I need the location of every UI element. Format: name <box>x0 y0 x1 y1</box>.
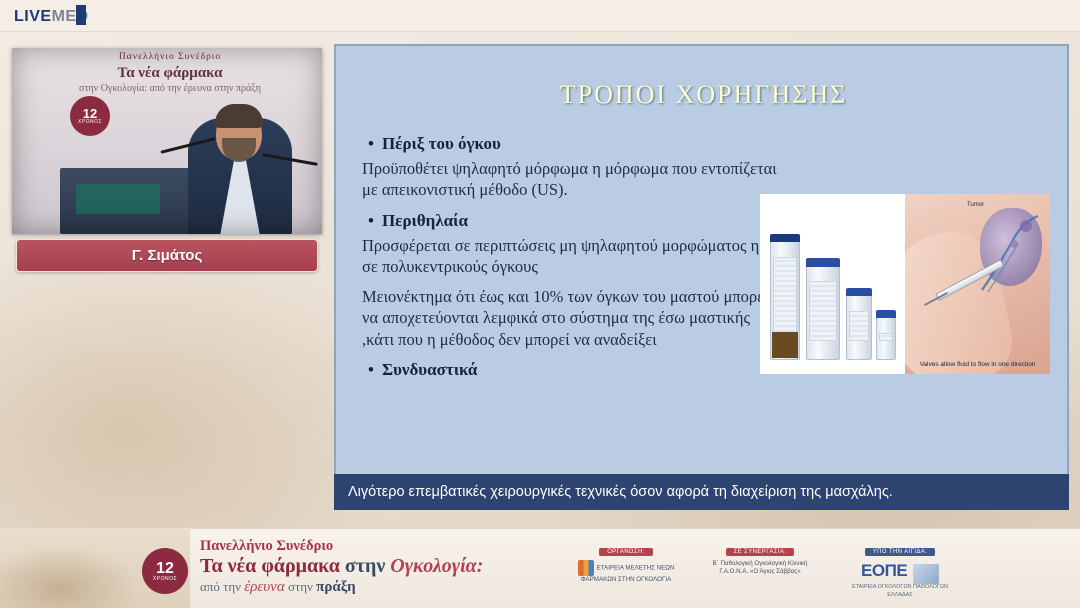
vial-label <box>773 257 797 341</box>
congress-seal-footer-number: 12 <box>156 561 174 577</box>
slide-title: ΤΡΟΠΟΙ ΧΟΡΗΓΗΣΗΣ <box>336 80 1071 110</box>
vial-label <box>879 333 893 341</box>
slide-bullet-2: •Περιθηλαία <box>368 211 778 231</box>
eope-subtitle: ΕΤΑΙΡΕΙΑ ΟΓΚΟΛΟΓΩΝ ΠΑΘΟΛΟΓΩΝ ΕΛΛΑΔΑΣ <box>840 584 960 599</box>
bullet-dot-icon: • <box>368 360 374 379</box>
video-vignette <box>12 48 322 234</box>
vial-xsmall <box>876 316 896 360</box>
subtitle-text: Λιγότερο επεμβατικές χειρουργικές τεχνικ… <box>348 484 893 500</box>
congress-title-line2-a: Τα νέα φάρμακα <box>200 555 340 577</box>
slide-bullet-1: •Πέριξ του όγκου <box>368 134 778 154</box>
valves-caption: Valves allow fluid to flow in one direct… <box>905 361 1050 370</box>
collaboration-name: Β΄ Παθολογική Ογκολογική Κλινική Γ.Α.Ο.Ν… <box>700 560 820 577</box>
vial-label <box>809 281 837 341</box>
subtitle-bar: Λιγότερο επεμβατικές χειρουργικές τεχνικ… <box>334 474 1069 510</box>
emfo-logo-icon <box>578 560 594 576</box>
congress-seal-footer: 12 ΧΡΟΝΟΣ <box>142 548 188 594</box>
vial-medium <box>806 264 840 360</box>
eope-logo-text: ΕΟΠΕ <box>861 561 907 580</box>
organizer-tag: ΟΡΓΑΝΩΣΗ: <box>599 548 653 556</box>
logo-live-text: LIVE <box>14 8 52 25</box>
vial-small <box>846 294 872 360</box>
vial-label <box>849 311 869 341</box>
auspices-name: ΕΟΠΕ ΕΤΑΙΡΕΙΑ ΟΓΚΟΛΟΓΩΝ ΠΑΘΟΛΟΓΩΝ ΕΛΛΑΔΑ… <box>840 560 960 599</box>
logo-accent-bar <box>76 5 86 25</box>
vial-cap <box>770 234 800 242</box>
top-bar: LIVEMED <box>0 0 1080 32</box>
congress-title-line2-b: στην <box>345 555 385 577</box>
slide-bullet-3: •Συνδυαστικά <box>368 360 778 380</box>
congress-title-line3-a: από την <box>200 579 241 594</box>
organizer-block: ΟΡΓΑΝΩΣΗ: ΕΤΑΙΡΕΙΑ ΜΕΛΕΤΗΣ ΝΕΩΝ ΦΑΡΜΑΚΩΝ… <box>566 548 686 584</box>
bullet-dot-icon: • <box>368 134 374 153</box>
slide-bullet-3-label: Συνδυαστικά <box>382 360 477 379</box>
slide-bullet-2-label: Περιθηλαία <box>382 211 468 230</box>
bullet-dot-icon: • <box>368 211 374 230</box>
congress-title-line2: Τα νέα φάρμακα στην Ογκολογία: <box>200 555 560 579</box>
congress-seal-footer-sub: ΧΡΟΝΟΣ <box>153 577 177 582</box>
speaker-nameplate: Γ. Σιμάτος <box>16 239 318 272</box>
slide-bullet-1-label: Πέριξ του όγκου <box>382 134 501 153</box>
congress-title-line3-d: πράξη <box>316 579 356 595</box>
vial-cap <box>806 258 840 267</box>
vials-photo <box>760 194 905 374</box>
slide-paragraph-2: Προσφέρεται σε περιπτώσεις μη ψηλαφητού … <box>362 235 778 278</box>
slide-image-group: Tumor Valves allow fluid to flow in one … <box>760 194 1050 374</box>
auspices-secondary-logo-icon <box>913 564 939 584</box>
slide-body: •Πέριξ του όγκου Προϋποθέτει ψηλαφητό μό… <box>358 134 778 384</box>
lymphatic-anatomy-photo: Tumor Valves allow fluid to flow in one … <box>905 194 1050 374</box>
congress-title-line2-c: Ογκολογία: <box>390 555 483 577</box>
speaker-video[interactable]: Πανελλήνιο Συνέδριο Τα νέα φάρμακα στην … <box>12 48 322 234</box>
presentation-slide[interactable]: ΤΡΟΠΟΙ ΧΟΡΗΓΗΣΗΣ •Πέριξ του όγκου Προϋπο… <box>334 44 1069 510</box>
congress-title-line3: από την έρευνα στην πράξη <box>200 579 560 597</box>
organizer-name-text: ΕΤΑΙΡΕΙΑ ΜΕΛΕΤΗΣ ΝΕΩΝ ΦΑΡΜΑΚΩΝ ΣΤΗΝ ΟΓΚΟ… <box>581 565 675 583</box>
vial-large <box>770 240 800 360</box>
congress-title-block: Πανελλήνιο Συνέδριο Τα νέα φάρμακα στην … <box>200 538 560 596</box>
vial-liquid <box>772 332 798 358</box>
lymph-vessels-icon <box>974 204 1044 294</box>
slide-paragraph-3: Μειονέκτημα ότι έως και 10% των όγκων το… <box>362 286 778 350</box>
collaboration-tag: ΣΕ ΣΥΝΕΡΓΑΣΙΑ: <box>726 548 795 556</box>
vial-cap <box>876 310 896 318</box>
slide-paragraph-1: Προϋποθέτει ψηλαφητό μόρφωμα η μόρφωμα π… <box>362 158 778 201</box>
auspices-block: ΥΠΟ ΤΗΝ ΑΙΓΙΔΑ: ΕΟΠΕ ΕΤΑΙΡΕΙΑ ΟΓΚΟΛΟΓΩΝ … <box>840 548 960 599</box>
tumor-label: Tumor <box>967 202 984 208</box>
vial-cap <box>846 288 872 296</box>
speaker-name: Γ. Σιμάτος <box>132 247 203 264</box>
congress-title-line1: Πανελλήνιο Συνέδριο <box>200 538 560 555</box>
screenshot-root: LIVEMED Πανελλήνιο Συνέδριο Τα νέα φάρμα… <box>0 0 1080 608</box>
collaboration-block: ΣΕ ΣΥΝΕΡΓΑΣΙΑ: Β΄ Παθολογική Ογκολογική … <box>700 548 820 577</box>
auspices-tag: ΥΠΟ ΤΗΝ ΑΙΓΙΔΑ: <box>865 548 936 556</box>
congress-title-line3-b: έρευνα <box>244 579 284 595</box>
congress-title-line3-c: στην <box>288 579 313 594</box>
organizer-name: ΕΤΑΙΡΕΙΑ ΜΕΛΕΤΗΣ ΝΕΩΝ ΦΑΡΜΑΚΩΝ ΣΤΗΝ ΟΓΚΟ… <box>566 560 686 584</box>
